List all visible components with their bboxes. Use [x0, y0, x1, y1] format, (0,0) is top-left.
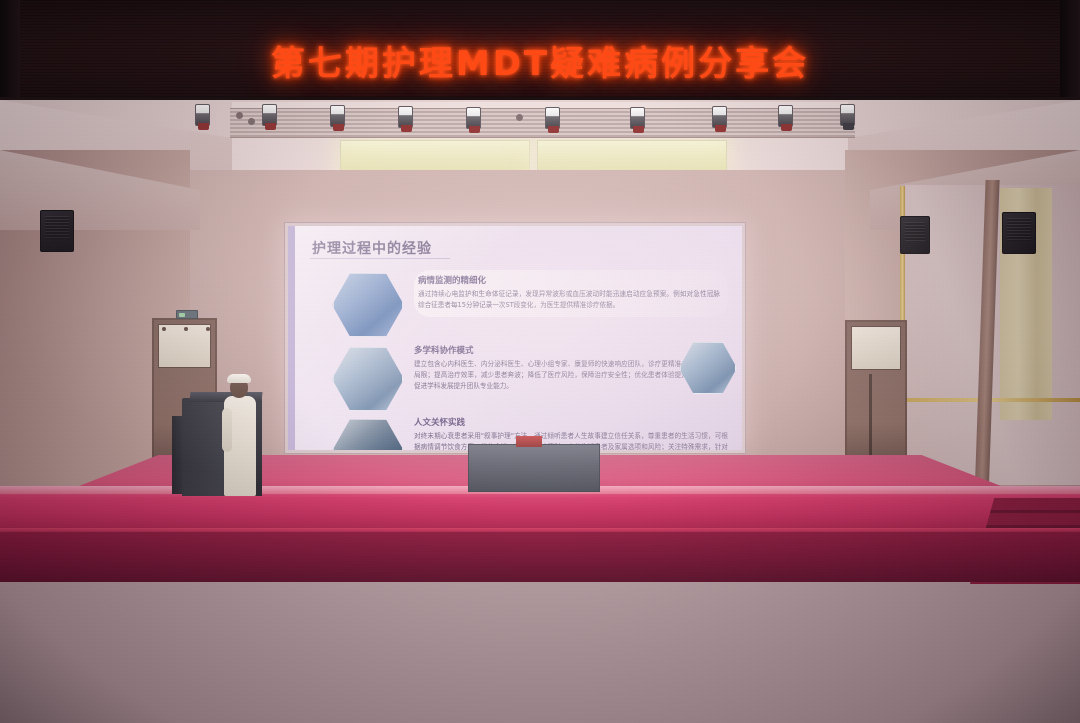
audience-area: 投票箱 4 第二排 2 — [0, 560, 1080, 723]
led-banner: 第七期护理MDT疑难病例分享会 — [0, 0, 1080, 100]
stage-spotlight-icon — [466, 107, 481, 129]
stage-spotlight-icon — [630, 107, 645, 129]
stage-spotlight-icon — [545, 107, 560, 129]
pa-speaker-right — [1002, 212, 1036, 254]
slide-block-2: 多学科协作模式 建立包含心内科医生、内分泌科医生、心理小组专家、康复师的快速响应… — [332, 344, 728, 392]
projection-screen: 护理过程中的经验 病情监测的精细化 通过持续心电监护和生命体征记录，发现异常波形… — [284, 222, 746, 454]
auditorium-scene: 护理过程中的经验 病情监测的精细化 通过持续心电监护和生命体征记录，发现异常波形… — [0, 0, 1080, 723]
lighting-truss-front — [230, 108, 855, 138]
pa-speaker-back-right — [900, 216, 930, 254]
slide-title: 护理过程中的经验 — [312, 238, 432, 258]
door-leaf-gap — [869, 374, 872, 466]
stage-spotlight-icon — [398, 106, 413, 128]
stage-spotlight-icon — [195, 104, 210, 126]
stage-spotlight-icon — [330, 105, 345, 127]
stage-spotlight-icon — [262, 104, 277, 126]
door-stud — [184, 327, 188, 331]
led-banner-text: 第七期护理MDT疑难病例分享会 — [0, 36, 1080, 85]
nurse-cap-icon — [227, 374, 251, 383]
panel-table — [468, 444, 600, 492]
slide-image-3 — [332, 418, 404, 450]
nurse-arm — [222, 408, 232, 452]
slide-image-1 — [332, 272, 404, 338]
presenting-nurse — [222, 372, 258, 496]
truss-fitting — [516, 114, 523, 121]
table-red-item — [516, 436, 542, 447]
emergency-exit-sign-icon — [176, 310, 198, 319]
stage-spotlight-icon — [778, 105, 793, 127]
exit-door-right[interactable] — [845, 320, 907, 468]
presentation-slide: 护理过程中的经验 病情监测的精细化 通过持续心电监护和生命体征记录，发现异常波形… — [288, 226, 742, 450]
slide-title-underline — [310, 258, 450, 259]
stage-spotlight-icon — [712, 106, 727, 128]
stage-spotlight-icon — [840, 104, 855, 126]
slide-block-1: 病情监测的精细化 通过持续心电监护和生命体征记录，发现异常波形或血压波动时能迅速… — [332, 270, 728, 317]
slide-block-3-heading: 人文关怀实践 — [414, 416, 728, 428]
door-stud — [162, 327, 166, 331]
slide-accent-bar — [288, 226, 295, 450]
door-stud — [206, 327, 210, 331]
slide-block-1-body: 通过持续心电监护和生命体征记录，发现异常波形或血压波动时能迅速启动应急预案。例如… — [418, 289, 720, 311]
door-transom-window — [851, 326, 901, 370]
pa-speaker-left — [40, 210, 74, 252]
slide-image-2 — [332, 346, 404, 412]
truss-fitting — [236, 112, 243, 119]
slide-image-2b — [679, 341, 737, 395]
truss-fitting — [248, 118, 255, 125]
slide-block-1-heading: 病情监测的精细化 — [418, 274, 720, 286]
